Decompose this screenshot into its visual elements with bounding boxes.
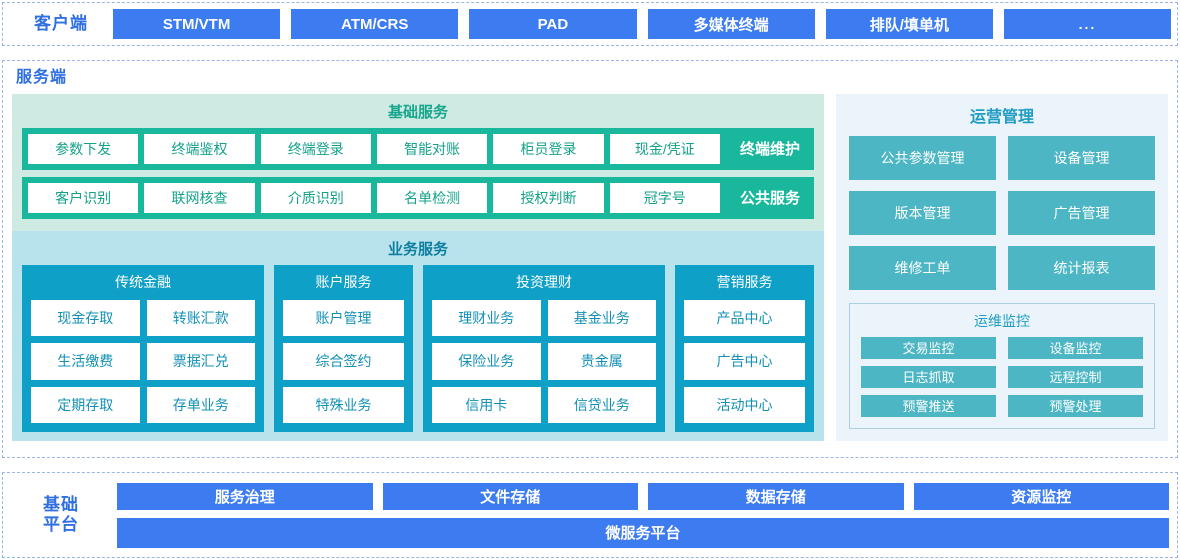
platform-layer: 基础 平台 服务治理 文件存储 数据存储 资源监控 微服务平台	[2, 472, 1178, 558]
platform-tile-data-storage[interactable]: 数据存储	[648, 483, 904, 510]
platform-footer-row: 微服务平台	[117, 518, 1169, 548]
basic-cell-online-verification[interactable]: 联网核查	[144, 183, 254, 213]
business-group-list: 传统金融 现金存取 转账汇款 生活缴费 票据汇兑 定期存取 存单业务	[12, 265, 824, 432]
business-group-account-service: 账户服务 账户管理 综合签约 特殊业务	[274, 265, 413, 432]
basic-cell-media-recognition[interactable]: 介质识别	[261, 183, 371, 213]
business-services-wrap: 业务服务 传统金融 现金存取 转账汇款 生活缴费 票据汇兑 定期存取 存单业务	[12, 231, 824, 441]
biz-cell-insurance-business[interactable]: 保险业务	[432, 343, 541, 379]
basic-services-row-terminal-maintenance: 参数下发 终端鉴权 终端登录 智能对账 柜员登录 现金/凭证 终端维护	[22, 128, 814, 170]
biz-cell-cash-deposit-withdraw[interactable]: 现金存取	[31, 300, 140, 336]
basic-row-label-terminal-maintenance: 终端维护	[726, 138, 814, 159]
monitor-cell-alert-handling[interactable]: 预警处理	[1008, 395, 1143, 417]
platform-layer-title: 基础 平台	[11, 495, 111, 535]
business-services-title: 业务服务	[12, 231, 824, 265]
client-tab-atm-crs[interactable]: ATM/CRS	[291, 9, 458, 39]
server-layer-title: 服务端	[16, 69, 1168, 88]
basic-cell-teller-login[interactable]: 柜员登录	[493, 134, 603, 164]
platform-tile-microservice-platform[interactable]: 微服务平台	[117, 518, 1169, 548]
basic-cell-smart-reconciliation[interactable]: 智能对账	[377, 134, 487, 164]
architecture-diagram: 客户端 STM/VTM ATM/CRS PAD 多媒体终端 排队/填单机 ...…	[0, 0, 1180, 560]
biz-cell-living-payment[interactable]: 生活缴费	[31, 343, 140, 379]
biz-cell-bill-exchange[interactable]: 票据汇兑	[147, 343, 256, 379]
client-tab-more[interactable]: ...	[1004, 9, 1171, 39]
basic-cell-param-dispatch[interactable]: 参数下发	[28, 134, 138, 164]
biz-cell-credit-business[interactable]: 信贷业务	[548, 387, 657, 423]
basic-cell-authorization-judgment[interactable]: 授权判断	[493, 183, 603, 213]
client-tab-queue-form-machine[interactable]: 排队/填单机	[826, 9, 993, 39]
monitor-cell-device-monitoring[interactable]: 设备监控	[1008, 337, 1143, 359]
biz-cell-comprehensive-signing[interactable]: 综合签约	[283, 343, 404, 379]
platform-layer-title-line2: 平台	[11, 515, 111, 535]
biz-cell-product-center[interactable]: 产品中心	[684, 300, 805, 336]
basic-services-title: 基础服务	[12, 94, 824, 128]
business-group-grid-marketing-service: 产品中心 广告中心 活动中心	[684, 300, 805, 423]
platform-layer-title-line1: 基础	[11, 495, 111, 515]
operations-column: 运营管理 公共参数管理 设备管理 版本管理 广告管理 维修工单 统计报表 运维监…	[836, 94, 1168, 441]
ops-cell-version-management[interactable]: 版本管理	[849, 191, 996, 235]
business-group-title-investment-finance: 投资理财	[432, 265, 656, 300]
biz-cell-transfer-remittance[interactable]: 转账汇款	[147, 300, 256, 336]
basic-cell-cash-voucher[interactable]: 现金/凭证	[610, 134, 720, 164]
monitor-cell-remote-control[interactable]: 远程控制	[1008, 366, 1143, 388]
client-tab-pad[interactable]: PAD	[469, 9, 636, 39]
monitoring-box: 运维监控 交易监控 设备监控 日志抓取 远程控制 预警推送 预警处理	[849, 303, 1155, 429]
business-group-marketing-service: 营销服务 产品中心 广告中心 活动中心	[675, 265, 814, 432]
business-group-grid-investment-finance: 理财业务 基金业务 保险业务 贵金属 信用卡 信贷业务	[432, 300, 656, 423]
ops-cell-device-management[interactable]: 设备管理	[1008, 136, 1155, 180]
biz-cell-fixed-deposit[interactable]: 定期存取	[31, 387, 140, 423]
operations-title: 运营管理	[849, 94, 1155, 136]
basic-services-row-public-service: 客户识别 联网核查 介质识别 名单检测 授权判断 冠字号 公共服务	[22, 177, 814, 219]
biz-cell-account-management[interactable]: 账户管理	[283, 300, 404, 336]
basic-services-wrap: 参数下发 终端鉴权 终端登录 智能对账 柜员登录 现金/凭证 终端维护 客户识别…	[12, 128, 824, 226]
server-body: 基础服务 参数下发 终端鉴权 终端登录 智能对账 柜员登录 现金/凭证 终端维护…	[12, 94, 1168, 441]
biz-cell-wealth-management[interactable]: 理财业务	[432, 300, 541, 336]
client-layer-title: 客户端	[9, 14, 113, 34]
platform-tile-file-storage[interactable]: 文件存储	[383, 483, 639, 510]
business-group-title-marketing-service: 营销服务	[684, 265, 805, 300]
ops-cell-public-param-management[interactable]: 公共参数管理	[849, 136, 996, 180]
business-group-grid-traditional-finance: 现金存取 转账汇款 生活缴费 票据汇兑 定期存取 存单业务	[31, 300, 255, 423]
operations-grid: 公共参数管理 设备管理 版本管理 广告管理 维修工单 统计报表	[849, 136, 1155, 290]
ops-cell-advertising-management[interactable]: 广告管理	[1008, 191, 1155, 235]
business-group-traditional-finance: 传统金融 现金存取 转账汇款 生活缴费 票据汇兑 定期存取 存单业务	[22, 265, 264, 432]
monitor-cell-transaction-monitoring[interactable]: 交易监控	[861, 337, 996, 359]
biz-cell-fund-business[interactable]: 基金业务	[548, 300, 657, 336]
platform-tile-service-governance[interactable]: 服务治理	[117, 483, 373, 510]
client-tab-list: STM/VTM ATM/CRS PAD 多媒体终端 排队/填单机 ...	[113, 9, 1171, 39]
business-group-title-account-service: 账户服务	[283, 265, 404, 300]
biz-cell-precious-metals[interactable]: 贵金属	[548, 343, 657, 379]
ops-cell-statistical-report[interactable]: 统计报表	[1008, 246, 1155, 290]
monitor-cell-alert-push[interactable]: 预警推送	[861, 395, 996, 417]
biz-cell-credit-card[interactable]: 信用卡	[432, 387, 541, 423]
business-group-title-traditional-finance: 传统金融	[31, 265, 255, 300]
platform-stack: 服务治理 文件存储 数据存储 资源监控 微服务平台	[111, 483, 1169, 548]
basic-cell-terminal-login[interactable]: 终端登录	[261, 134, 371, 164]
monitoring-grid: 交易监控 设备监控 日志抓取 远程控制 预警推送 预警处理	[861, 337, 1143, 417]
platform-tile-resource-monitoring[interactable]: 资源监控	[914, 483, 1170, 510]
biz-cell-special-business[interactable]: 特殊业务	[283, 387, 404, 423]
basic-cell-customer-identification[interactable]: 客户识别	[28, 183, 138, 213]
basic-row-label-public-service: 公共服务	[726, 187, 814, 208]
business-group-grid-account-service: 账户管理 综合签约 特殊业务	[283, 300, 404, 423]
services-column: 基础服务 参数下发 终端鉴权 终端登录 智能对账 柜员登录 现金/凭证 终端维护…	[12, 94, 824, 441]
monitor-cell-log-capture[interactable]: 日志抓取	[861, 366, 996, 388]
client-tab-stm-vtm[interactable]: STM/VTM	[113, 9, 280, 39]
client-layer: 客户端 STM/VTM ATM/CRS PAD 多媒体终端 排队/填单机 ...	[2, 2, 1178, 46]
basic-cell-terminal-auth[interactable]: 终端鉴权	[144, 134, 254, 164]
client-tab-multimedia-terminal[interactable]: 多媒体终端	[648, 9, 815, 39]
biz-cell-activity-center[interactable]: 活动中心	[684, 387, 805, 423]
basic-cell-list-detection[interactable]: 名单检测	[377, 183, 487, 213]
basic-cell-serial-number[interactable]: 冠字号	[610, 183, 720, 213]
biz-cell-advertising-center[interactable]: 广告中心	[684, 343, 805, 379]
business-group-investment-finance: 投资理财 理财业务 基金业务 保险业务 贵金属 信用卡 信贷业务	[423, 265, 665, 432]
server-layer: 服务端 基础服务 参数下发 终端鉴权 终端登录 智能对账 柜员登录 现金/凭证 …	[2, 60, 1178, 458]
biz-cell-certificate-deposit[interactable]: 存单业务	[147, 387, 256, 423]
monitoring-title: 运维监控	[861, 304, 1143, 337]
platform-tile-row: 服务治理 文件存储 数据存储 资源监控	[117, 483, 1169, 510]
ops-cell-repair-work-order[interactable]: 维修工单	[849, 246, 996, 290]
